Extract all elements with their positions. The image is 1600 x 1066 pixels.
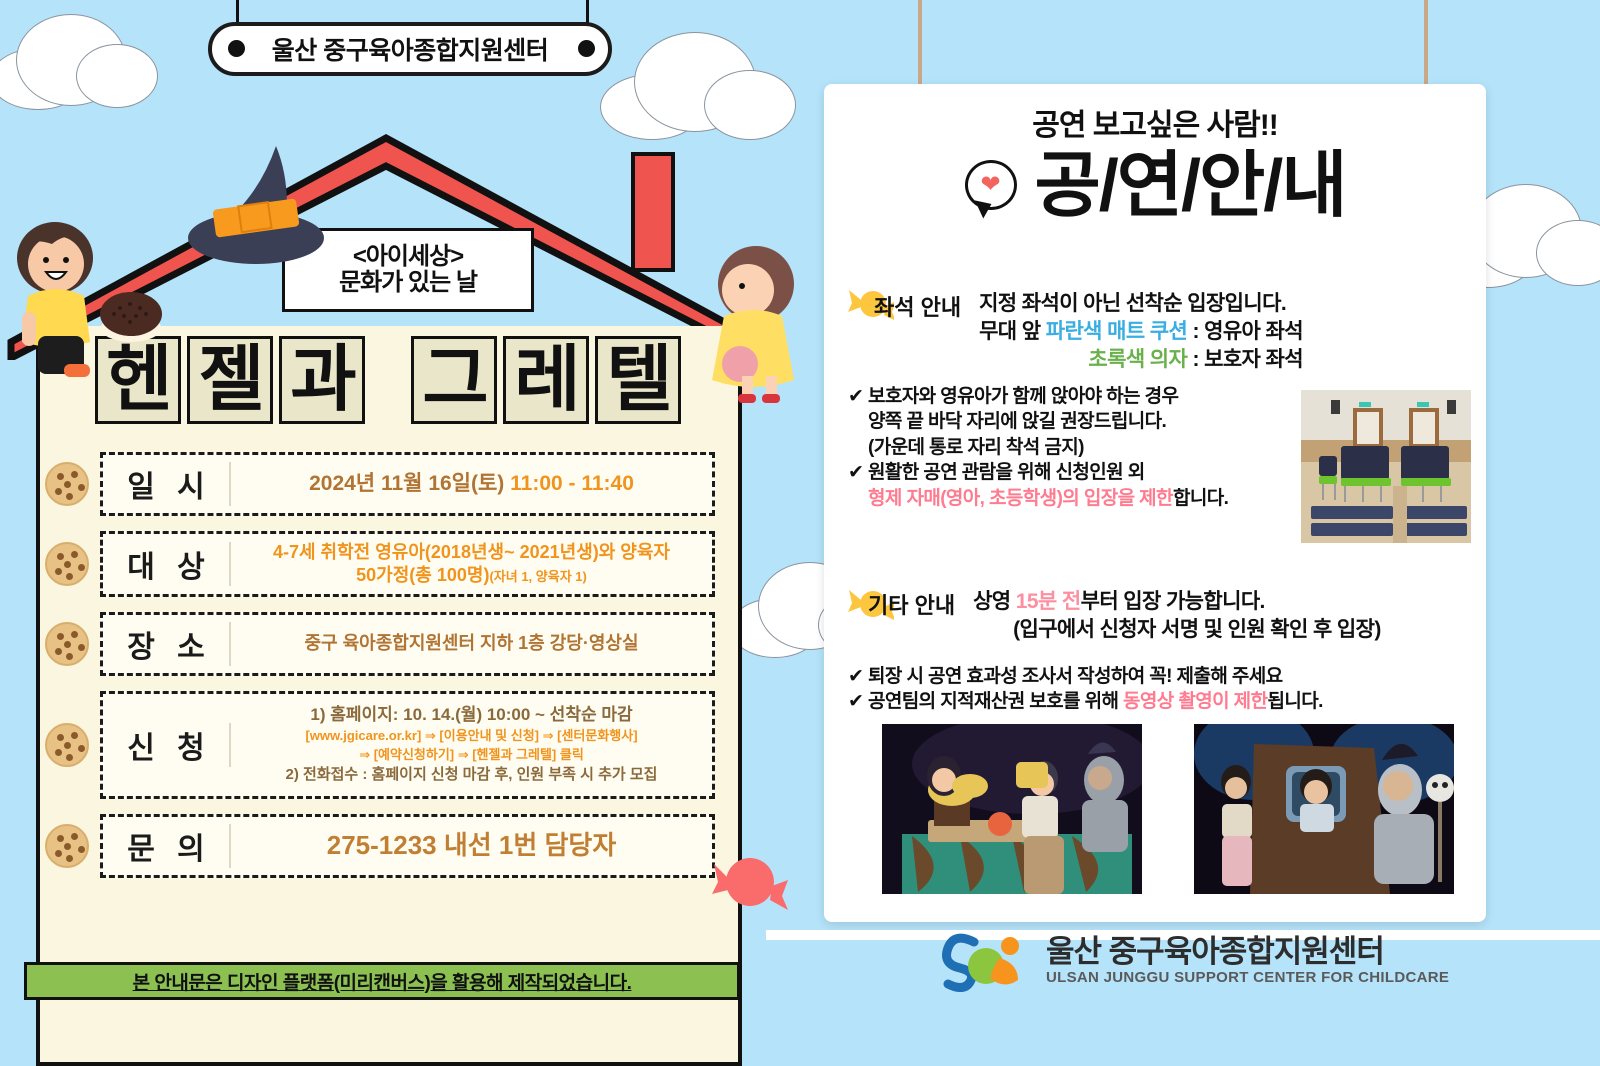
seat-restrict-highlight: 형제 자매(영아, 초등학생)의 입장을 제한 [868,488,1173,509]
info-value-target-line2a: 50가정(총 100명) [356,565,489,585]
hanger-string-left [918,0,922,96]
etc-bullet-2-post: 됩니다. [1267,691,1322,712]
heart-icon: ❤ [980,173,1000,197]
seat-bullet-1: ✔ 보호자와 영유아가 함께 앉아야 하는 경우 [848,384,1318,409]
auditorium-seating-photo [1301,390,1471,543]
info-row-application: 신 청 1) 홈페이지: 10. 14.(월) 10:00 ~ 선착순 마감 [… [45,691,715,799]
cookie-icon [45,723,89,767]
panel-title: 공/연/안/내 [1035,150,1346,222]
etc-bullet-2-pink: 동영상 촬영이 제한 [1123,691,1267,712]
etc-line1-post: 부터 입장 가능합니다. [1081,590,1265,613]
etc-line1-pre: 상영 [973,590,1016,613]
etc-bullet-2-pre: ✔ 공연팀의 지적재산권 보호를 위해 [848,691,1123,712]
performance-photo-right [1194,724,1454,894]
performance-photo-left [882,724,1142,894]
seat-bullet-1-text: 보호자와 영유아가 함께 앉아야 하는 경우 [868,386,1178,407]
info-rows: 일 시 2024년 11월 16일(토) 11:00 - 11:40 대 상 4… [45,452,715,893]
info-value-time: 11:00 - 11:40 [510,472,634,495]
subtitle-line-2: 문화가 있는 날 [339,270,477,296]
info-row-place: 장 소 중구 육아종합지원센터 지하 1층 강당·영상실 [45,612,715,676]
info-label-contact: 문 의 [103,824,231,868]
design-platform-notice-bar: 본 안내문은 디자인 플랫폼(미리캔버스)을 활용해 제작되었습니다. [24,962,740,1000]
info-value-target-line1: 4-7세 취학전 영유아(2018년생~ 2021년생)와 양육자 [239,541,704,564]
seat-guide-section: 좌석 안내 지정 좌석이 아닌 선착순 입장입니다. 무대 앞 파란색 매트 쿠… [874,290,1474,374]
info-value-app-line4: 2) 전화접수 : 홈페이지 신청 마감 후, 인원 부족 시 추가 모집 [239,764,704,785]
etc-guide-line-1: 상영 15분 전부터 입장 가능합니다. [973,588,1381,616]
title-char-2: 젤 [187,336,273,424]
etc-bullets: ✔ 퇴장 시 공연 효과성 조사서 작성하여 꼭! 제출해 주세요 ✔ 공연팀의… [848,664,1468,715]
seat-bullet-3: (가운데 통로 자리 착석 금지) [848,435,1318,460]
panel-header: 공연 보고싶은 사람!! ❤ 공/연/안/내 [824,84,1486,222]
panel-kicker: 공연 보고싶은 사람!! [824,100,1486,144]
seat-restrict-tail: 합니다. [1173,488,1228,509]
seat-bullet-2: 양쪽 끝 바닥 자리에 앉길 권장드립니다. [848,409,1318,434]
etc-guide-section: 기타 안내 상영 15분 전부터 입장 가능합니다. (입구에서 신청자 서명 … [868,588,1478,644]
etc-line1-pink: 15분 전 [1016,590,1081,613]
pink-candy-icon [712,846,788,916]
performance-info-panel: 공연 보고싶은 사람!! ❤ 공/연/안/내 좌석 안내 지정 좌석이 아닌 선… [824,84,1486,922]
subtitle-line-1: <아이세상> [353,244,463,270]
title-char-4: 그 [411,336,497,424]
seat-bullet-4-check: ✔ [848,462,863,483]
seat-bullet-1-check: ✔ [848,386,863,407]
pill-dot-left [228,40,245,57]
chimney [631,152,675,272]
cloud-top-left [0,8,170,108]
etc-guide-line-2: (입구에서 신청자 서명 및 인원 확인 후 입장) [973,616,1381,644]
seat-line3-post: : 보호자 좌석 [1187,348,1303,371]
seat-line3-green: 초록색 의자 [1088,348,1187,371]
seat-line2-pre: 무대 앞 [979,320,1046,343]
info-value-date: 2024년 11월 16일(토) [309,472,510,495]
seat-guide-title: 좌석 안내 [874,290,961,322]
cookie-icon [45,462,89,506]
seat-line2-post: : 영유아 좌석 [1187,320,1303,343]
girl-character [700,244,810,409]
etc-guide-title: 기타 안내 [868,588,955,620]
etc-bullet-1: ✔ 퇴장 시 공연 효과성 조사서 작성하여 꼭! 제출해 주세요 [848,664,1468,689]
seat-guide-line-3: 초록색 의자 : 보호자 좌석 [979,346,1303,374]
title-char-6: 텔 [595,336,681,424]
etc-bullet-2: ✔ 공연팀의 지적재산권 보호를 위해 동영상 촬영이 제한됩니다. [848,689,1468,714]
info-value-contact: 275-1233 내선 1번 담당자 [327,830,617,860]
info-value-app-line1: 1) 홈페이지: 10. 14.(월) 10:00 ~ 선착순 마감 [239,703,704,727]
logo-text-english: ULSAN JUNGGU SUPPORT CENTER FOR CHILDCAR… [1046,969,1449,986]
seat-bullet-4-text: 원활한 공연 관람을 위해 신청인원 외 [868,462,1145,483]
hanger-string-right [1424,0,1428,96]
poster-title: 헨 젤 과 그 레 텔 [95,336,681,424]
center-logo: 울산 중구육아종합지원센터 ULSAN JUNGGU SUPPORT CENTE… [940,930,1449,992]
seat-line2-blue: 파란색 매트 쿠션 [1046,320,1188,343]
seat-bullet-4: ✔ 원활한 공연 관람을 위해 신청인원 외 [848,460,1318,485]
info-value-app-line3: ⇒ [예약신청하기] ⇒ [헨젤과 그레텔] 클릭 [239,746,704,764]
heart-speech-bubble-icon: ❤ [965,160,1021,212]
cloud-top-right-a [600,30,800,140]
logo-mark-icon [940,930,1032,992]
witch-hat-icon [178,142,338,270]
info-row-contact: 문 의 275-1233 내선 1번 담당자 [45,814,715,878]
organization-banner-label: 울산 중구육아종합지원센터 [272,31,548,67]
cookie-icon [45,824,89,868]
info-label-place: 장 소 [103,622,231,666]
info-label-date: 일 시 [103,462,231,506]
cookie-sandwich-icon [98,288,164,350]
organization-banner: 울산 중구육아종합지원센터 [208,22,612,76]
seat-bullet-5: 형제 자매(영아, 초등학생)의 입장을 제한합니다. [848,486,1318,511]
seat-guide-line-2: 무대 앞 파란색 매트 쿠션 : 영유아 좌석 [979,318,1303,346]
seat-bullets: ✔ 보호자와 영유아가 함께 앉아야 하는 경우 양쪽 끝 바닥 자리에 앉길 … [848,384,1318,511]
title-space [371,336,405,424]
title-char-5: 레 [503,336,589,424]
seat-guide-line-1: 지정 좌석이 아닌 선착순 입장입니다. [979,290,1303,318]
info-value-place: 중구 육아종합지원센터 지하 1층 강당·영상실 [304,633,638,653]
design-platform-notice-text: 본 안내문은 디자인 플랫폼(미리캔버스)을 활용해 제작되었습니다. [133,968,632,995]
info-value-target-line2b: (자녀 1, 양육자 1) [489,569,586,584]
pill-dot-right [578,40,595,57]
info-row-date: 일 시 2024년 11월 16일(토) 11:00 - 11:40 [45,452,715,516]
cookie-icon [45,622,89,666]
info-label-application: 신 청 [103,723,231,767]
cookie-icon [45,542,89,586]
info-value-app-line2: [www.jgicare.or.kr] ⇒ [이용안내 및 신청] ⇒ [센터문… [239,727,704,745]
title-char-3: 과 [279,336,365,424]
info-row-target: 대 상 4-7세 취학전 영유아(2018년생~ 2021년생)와 양육자 50… [45,531,715,597]
info-label-target: 대 상 [103,542,231,586]
logo-text-korean: 울산 중구육아종합지원센터 [1046,936,1449,969]
